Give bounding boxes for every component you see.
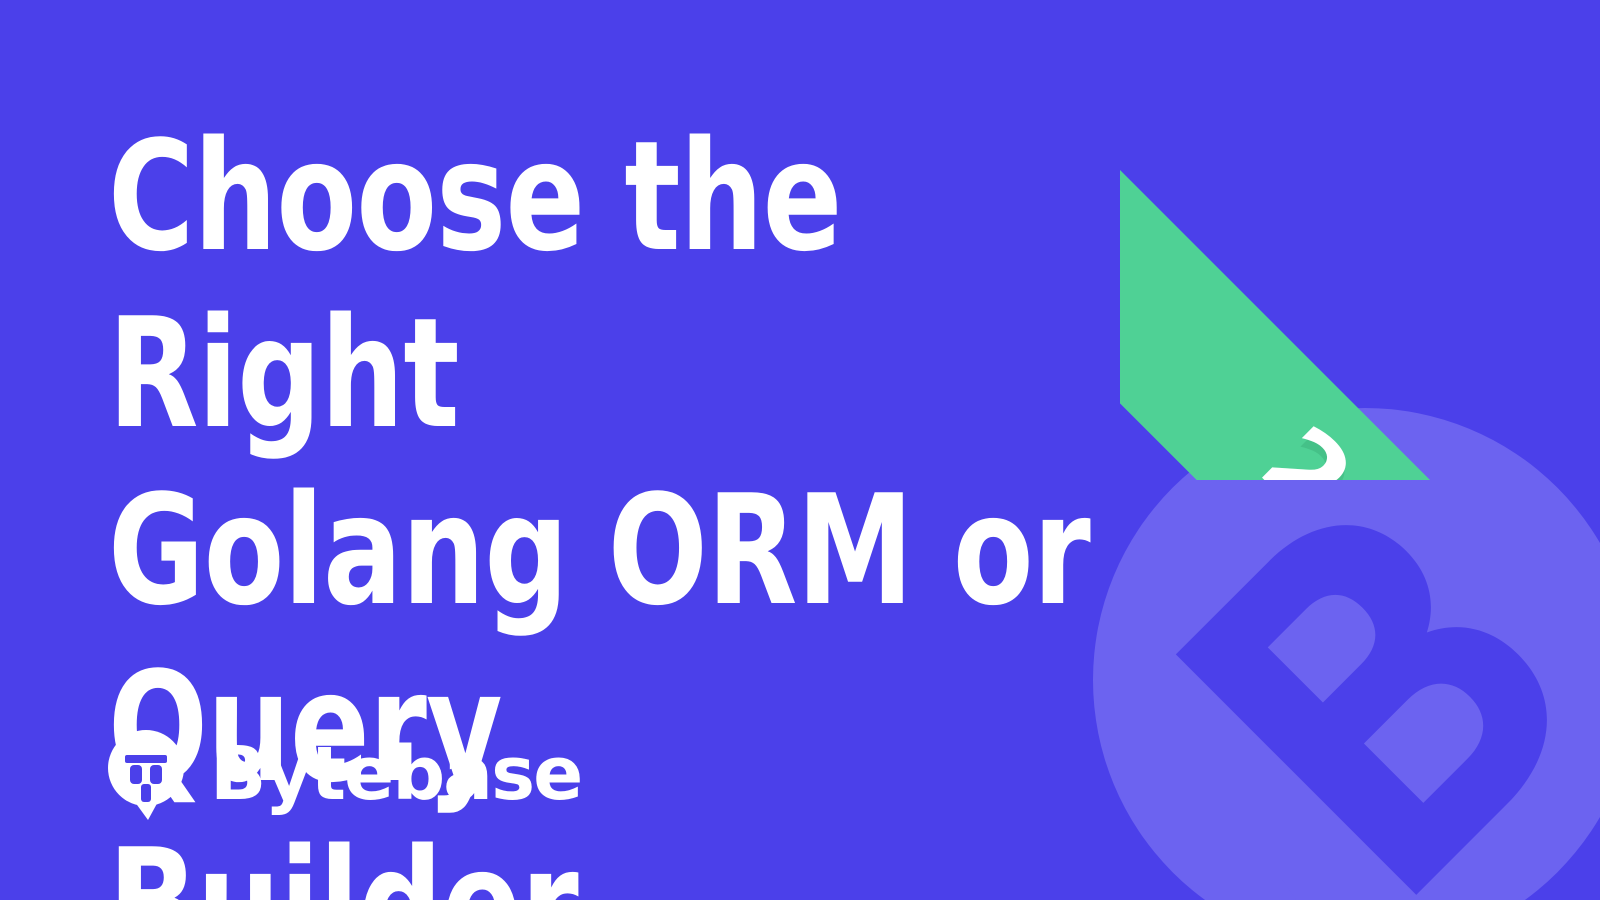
year-ribbon: 2025	[1120, 0, 1600, 480]
year-ribbon-label: 2025	[1245, 409, 1526, 480]
year-ribbon-band: 2025	[1120, 118, 1600, 480]
bytebase-b-monogram-watermark-icon	[1085, 408, 1600, 900]
blog-cover-card: Choose the Right Golang ORM or Query Bui…	[0, 0, 1600, 900]
bytebase-logo-icon	[104, 728, 188, 820]
brand-lockup: Bytebase	[104, 728, 581, 820]
brand-name: Bytebase	[210, 737, 581, 811]
